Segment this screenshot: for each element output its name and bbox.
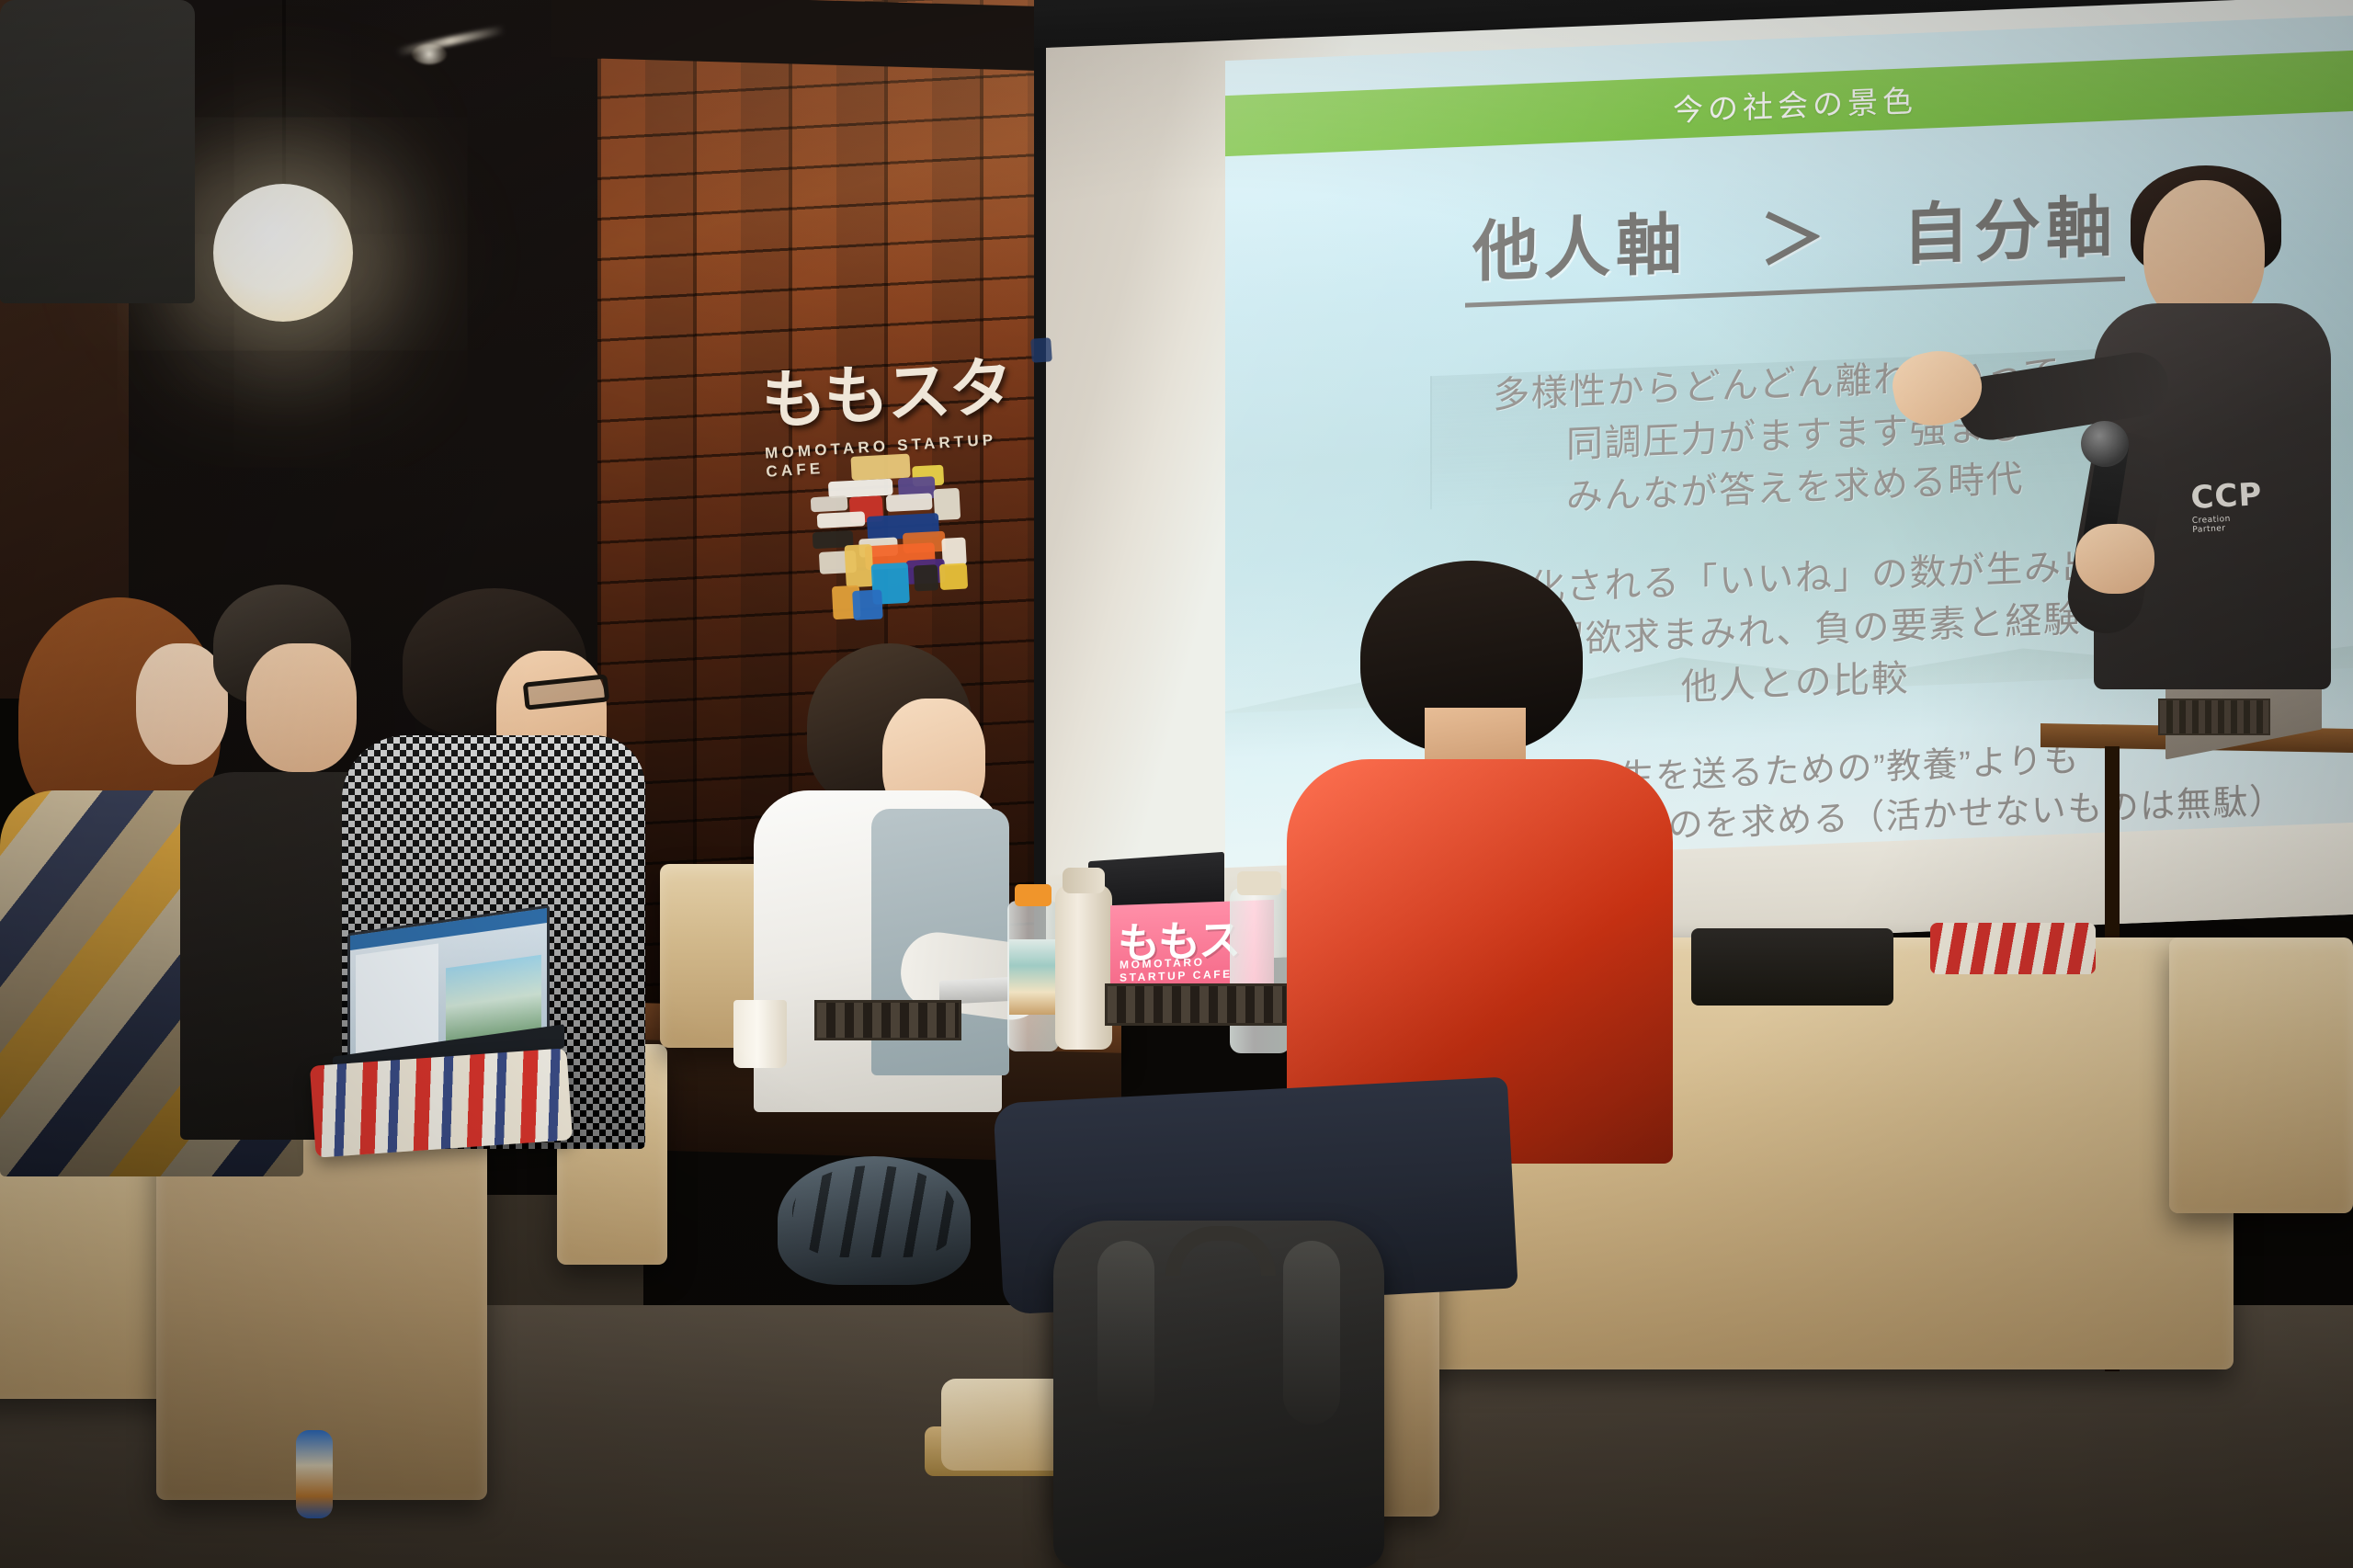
basket-icon [2158, 699, 2270, 735]
lamp-cord [282, 0, 286, 198]
thermos-icon [1055, 884, 1112, 1050]
laptop-screen-pane [356, 944, 438, 1059]
bicycle-helmet-icon [778, 1156, 971, 1285]
slide-header-title: 今の社会の景色 [1673, 76, 1917, 131]
wall-logo-sign: ももスタ MOMOTARO STARTUP CAFE [759, 334, 1040, 435]
backpack-strap-right [1283, 1241, 1340, 1425]
paper-cup-icon [733, 1000, 787, 1068]
backpack-handle [1165, 1226, 1276, 1276]
legs [0, 0, 195, 303]
thermos-cap [1063, 868, 1105, 893]
bottle-cap [1015, 884, 1051, 906]
sticker-cluster [808, 448, 1000, 622]
face [246, 643, 357, 772]
backpack-charm-icon [296, 1430, 333, 1518]
wall-logo-jp: ももスタ [759, 334, 1040, 443]
basket-tray-right [1105, 983, 1289, 1026]
sofa-far-right [2169, 937, 2353, 1213]
basket-tray-left [814, 1000, 961, 1040]
ceiling-spot-light [412, 44, 447, 64]
pillow-striped [310, 1048, 573, 1157]
bottle-icon-water [1230, 888, 1290, 1053]
backpack-strap-left [1097, 1241, 1154, 1425]
wall-badge-icon [1030, 337, 1052, 362]
slide-header-bar: 今の社会の景色 [1225, 50, 2353, 156]
hoodie-logo: CCP Creation Partner [2189, 476, 2264, 535]
backpack-icon [1053, 1221, 1384, 1568]
conference-room-scene: 今の社会の景色 他人軸 ＞ 自分軸 多様性からどんどん離れていって、 同調圧力が… [0, 0, 2353, 1568]
hoodie-logo-sub: Creation Partner [2192, 513, 2265, 535]
presenter: CCP Creation Partner [0, 0, 195, 303]
pillow-dark [1691, 928, 1893, 1006]
pillow-striped-red [1930, 923, 2096, 974]
bottle-label [1009, 939, 1057, 1015]
hand-holding-mic [2075, 524, 2154, 594]
pendant-lamp-icon [213, 184, 353, 322]
bottle-cap-water [1237, 871, 1281, 895]
